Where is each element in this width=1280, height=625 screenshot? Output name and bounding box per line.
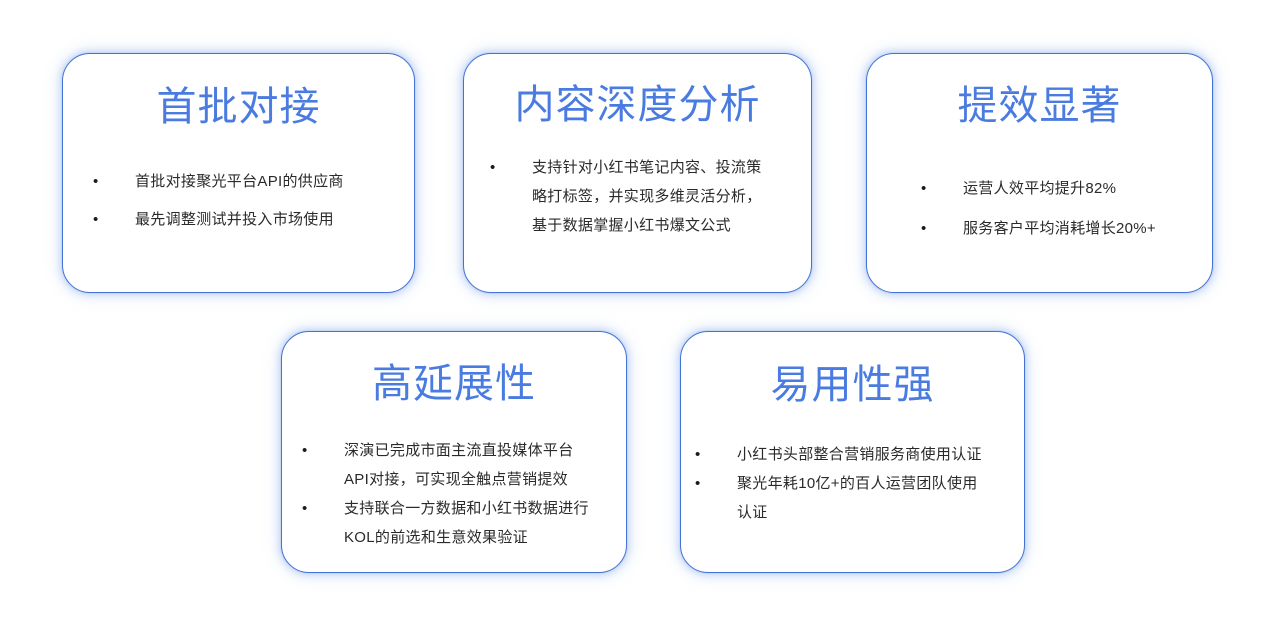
bullet-list: • 支持针对小红书笔记内容、投流策 略打标签，并实现多维灵活分析， 基于数据掌握…	[464, 153, 811, 240]
bullet-text: 支持针对小红书笔记内容、投流策	[532, 153, 811, 182]
bullet-text: KOL的前选和生意效果验证	[344, 523, 626, 552]
card-title: 内容深度分析	[464, 85, 811, 125]
bullet-dot-icon: •	[490, 153, 532, 182]
bullet-dot-icon: •	[695, 469, 737, 498]
bullet-list: • 首批对接聚光平台API的供应商 • 最先调整测试并投入市场使用	[63, 167, 414, 234]
list-item: • 聚光年耗10亿+的百人运营团队使用 认证	[695, 469, 1024, 527]
bullet-text: 略打标签，并实现多维灵活分析，	[532, 182, 811, 211]
bullet-text: 服务客户平均消耗增长20%+	[963, 214, 1212, 243]
bullet-list: • 小红书头部整合营销服务商使用认证 • 聚光年耗10亿+的百人运营团队使用 认…	[681, 440, 1024, 527]
bullet-text: 首批对接聚光平台API的供应商	[135, 167, 414, 196]
slide-canvas: 首批对接 • 首批对接聚光平台API的供应商 • 最先调整测试并投入市场使用 内…	[0, 0, 1280, 625]
list-item: • 深演已完成市面主流直投媒体平台 API对接，可实现全触点营销提效	[302, 436, 626, 494]
bullet-dot-icon: •	[921, 214, 963, 243]
card-title: 易用性强	[681, 365, 1024, 405]
list-item: • 小红书头部整合营销服务商使用认证	[695, 440, 1024, 469]
feature-card-usability[interactable]: 易用性强 • 小红书头部整合营销服务商使用认证 • 聚光年耗10亿+的百人运营团…	[680, 331, 1025, 573]
list-item: • 支持联合一方数据和小红书数据进行 KOL的前选和生意效果验证	[302, 494, 626, 552]
bullet-text: 运营人效平均提升82%	[963, 174, 1212, 203]
bullet-text: 基于数据掌握小红书爆文公式	[532, 211, 811, 240]
bullet-list: • 运营人效平均提升82% • 服务客户平均消耗增长20%+	[867, 174, 1212, 243]
bullet-dot-icon: •	[302, 436, 344, 465]
bullet-text: 小红书头部整合营销服务商使用认证	[737, 440, 1024, 469]
bullet-text: 支持联合一方数据和小红书数据进行	[344, 494, 626, 523]
feature-card-extensibility[interactable]: 高延展性 • 深演已完成市面主流直投媒体平台 API对接，可实现全触点营销提效 …	[281, 331, 627, 573]
bullet-text: API对接，可实现全触点营销提效	[344, 465, 626, 494]
bullet-dot-icon: •	[921, 174, 963, 203]
bullet-dot-icon: •	[93, 167, 135, 196]
list-item: • 支持针对小红书笔记内容、投流策 略打标签，并实现多维灵活分析， 基于数据掌握…	[490, 153, 811, 240]
bullet-text: 深演已完成市面主流直投媒体平台	[344, 436, 626, 465]
list-item: • 服务客户平均消耗增长20%+	[921, 214, 1212, 243]
card-title: 首批对接	[63, 87, 414, 127]
feature-card-first-integration[interactable]: 首批对接 • 首批对接聚光平台API的供应商 • 最先调整测试并投入市场使用	[62, 53, 415, 293]
list-item: • 最先调整测试并投入市场使用	[93, 205, 414, 234]
list-item: • 首批对接聚光平台API的供应商	[93, 167, 414, 196]
list-item: • 运营人效平均提升82%	[921, 174, 1212, 203]
bullet-dot-icon: •	[302, 494, 344, 523]
card-title: 提效显著	[867, 86, 1212, 126]
bullet-dot-icon: •	[93, 205, 135, 234]
feature-card-efficiency[interactable]: 提效显著 • 运营人效平均提升82% • 服务客户平均消耗增长20%+	[866, 53, 1213, 293]
bullet-text: 最先调整测试并投入市场使用	[135, 205, 414, 234]
bullet-dot-icon: •	[695, 440, 737, 469]
bullet-list: • 深演已完成市面主流直投媒体平台 API对接，可实现全触点营销提效 • 支持联…	[282, 436, 626, 552]
card-title: 高延展性	[282, 364, 626, 404]
bullet-text: 认证	[737, 498, 1024, 527]
feature-card-content-analysis[interactable]: 内容深度分析 • 支持针对小红书笔记内容、投流策 略打标签，并实现多维灵活分析，…	[463, 53, 812, 293]
bullet-text: 聚光年耗10亿+的百人运营团队使用	[737, 469, 1024, 498]
